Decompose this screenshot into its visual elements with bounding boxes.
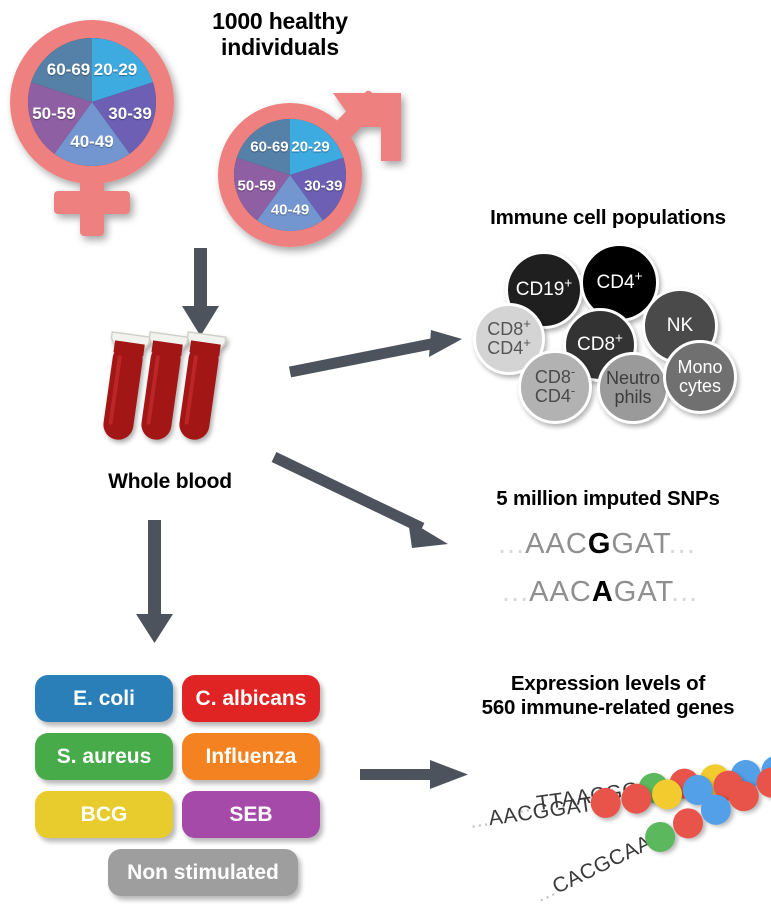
gene-bead (650, 777, 684, 811)
gene-bead (619, 782, 653, 816)
gene-strand-sequence: ...AACGGAT (468, 793, 594, 834)
diagram-canvas: 1000 healthyindividuals 20-2930-3940-495… (0, 0, 771, 922)
gene-strand-sequence: ...CACGCAA (532, 831, 656, 908)
gene-strands: ...TTAACGG...AACGGAT...CACGCAA (0, 0, 771, 922)
